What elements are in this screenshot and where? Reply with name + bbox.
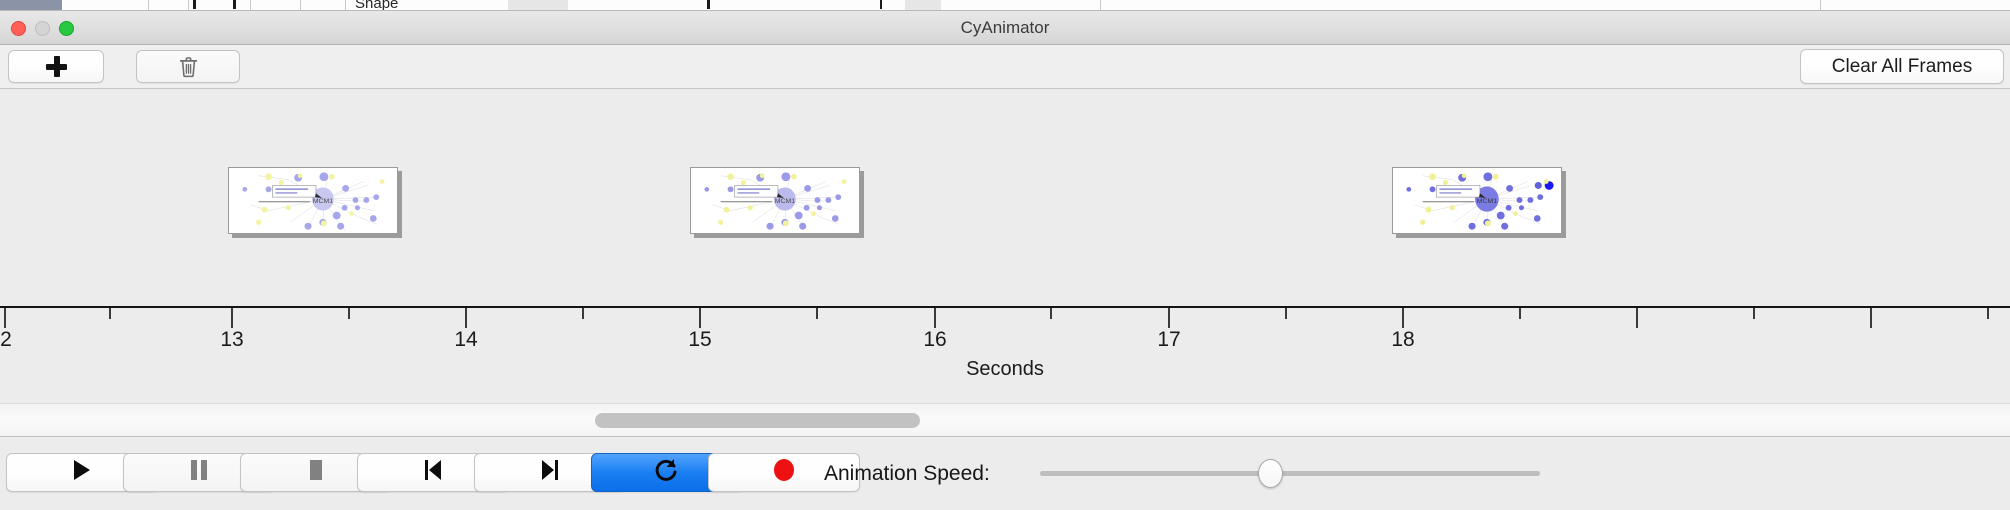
ruler-label-18: 18	[1391, 328, 1414, 352]
title-bar: CyAnimator	[0, 11, 2010, 45]
axis-title-seconds: Seconds	[0, 358, 2010, 381]
pause-icon	[189, 458, 209, 487]
timeline-track[interactable]: MCM1	[0, 89, 2010, 308]
background-shade-2	[905, 0, 941, 11]
svg-text:MCM1: MCM1	[1477, 198, 1498, 205]
timeline-ruler[interactable]: 2 13 14 15 16 17 18	[0, 308, 2010, 362]
horizontal-scrollbar[interactable]	[0, 403, 2010, 437]
background-divider-7	[1820, 0, 1821, 11]
background-divider-4	[300, 0, 301, 11]
window-title: CyAnimator	[0, 18, 2010, 38]
animation-speed-slider[interactable]	[1040, 471, 1540, 476]
background-shade-1	[508, 0, 568, 11]
ruler-label-14: 14	[454, 328, 477, 352]
background-app-label: Shape	[355, 0, 398, 11]
play-icon	[71, 458, 93, 487]
transport-controls: Animation Speed:	[0, 438, 2010, 510]
toolbar: Clear All Frames	[0, 45, 2010, 89]
background-divider-2	[188, 0, 189, 11]
add-frame-button[interactable]	[8, 50, 104, 83]
stop-icon	[306, 458, 326, 487]
clear-all-frames-button[interactable]: Clear All Frames	[1800, 49, 2004, 84]
ruler-label-15: 15	[688, 328, 711, 352]
background-divider-1	[148, 0, 149, 11]
ruler-label-16: 16	[923, 328, 946, 352]
frame-thumbnail-1[interactable]: MCM1	[228, 167, 398, 234]
background-selection-block	[0, 0, 62, 11]
background-divider-5	[345, 0, 346, 11]
background-divider-3	[250, 0, 251, 11]
record-icon	[772, 458, 796, 487]
clear-all-frames-label: Clear All Frames	[1832, 56, 1972, 78]
ruler-label-12: 2	[0, 328, 12, 352]
cyanimator-window: Shape CyAnimator Clear All Fram	[0, 0, 2010, 510]
animation-speed-label: Animation Speed:	[824, 462, 990, 486]
trash-icon	[178, 55, 199, 79]
background-notch-1	[193, 0, 196, 9]
delete-frame-button[interactable]	[136, 50, 240, 83]
background-notch-4	[880, 0, 882, 9]
background-notch-3	[707, 0, 710, 9]
svg-text:MCM1: MCM1	[775, 198, 796, 205]
loop-icon	[655, 457, 679, 488]
svg-text:MCM1: MCM1	[313, 198, 334, 205]
background-app-strip: Shape	[0, 0, 2010, 11]
background-divider-6	[1100, 0, 1101, 11]
scrollbar-thumb[interactable]	[595, 413, 920, 428]
frame-thumbnail-3[interactable]: MCM1	[1392, 167, 1562, 234]
ruler-label-17: 17	[1157, 328, 1180, 352]
skip-forward-icon	[539, 458, 561, 487]
ruler-label-13: 13	[220, 328, 243, 352]
plus-icon	[46, 56, 67, 77]
skip-back-icon	[422, 458, 444, 487]
frame-thumbnail-2[interactable]: MCM1	[690, 167, 860, 234]
background-notch-2	[233, 0, 236, 9]
animation-speed-slider-thumb[interactable]	[1258, 459, 1283, 488]
